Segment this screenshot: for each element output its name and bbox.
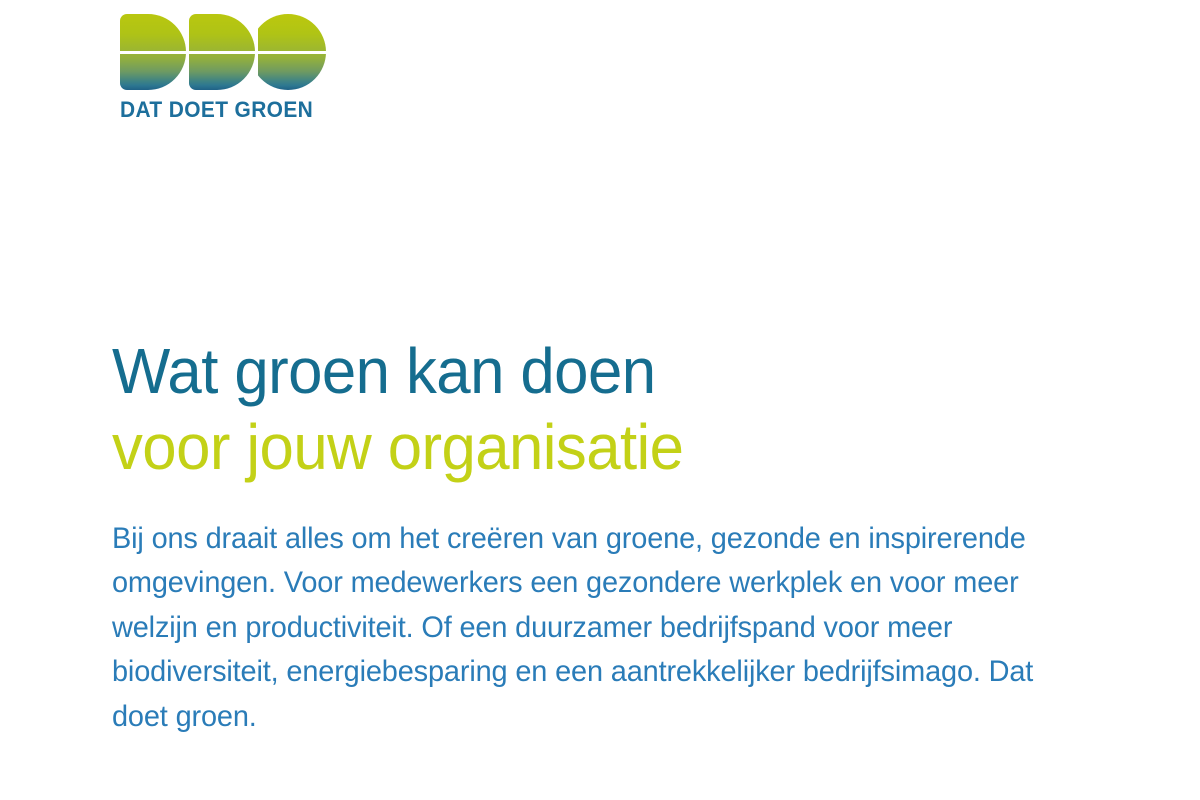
logo-glyph-d-second-bottom-shape: [189, 54, 255, 90]
logo-glyph-o-bottom-shape: [258, 54, 326, 90]
headline-line-primary: Wat groen kan doen: [112, 333, 1077, 409]
logo-glyph-o-top-shape: [258, 14, 326, 51]
logo-glyph-d-first-top-shape: [120, 14, 186, 51]
logo-glyph-d-second-bottom-half: [189, 54, 255, 90]
logo-glyph-d-first-top-half: [120, 14, 186, 51]
logo-mark: [120, 14, 326, 90]
headline-line-secondary: voor jouw organisatie: [112, 409, 1077, 485]
page-title: Wat groen kan doen voor jouw organisatie: [112, 333, 1112, 485]
logo-glyph-o-bottom-half: [258, 54, 326, 90]
logo-glyph-o-top-half: [258, 14, 326, 51]
logo-glyph-d-first-bottom-half: [120, 54, 186, 90]
logo-split-band: [118, 51, 328, 54]
logo-glyph-d-second-top-shape: [189, 14, 255, 51]
logo-glyph-d-second-top-half: [189, 14, 255, 51]
intro-paragraph: Bij ons draait alles om het creëren van …: [112, 517, 1041, 740]
page-root: DAT DOET GROEN Wat groen kan doen voor j…: [0, 0, 1200, 800]
logo-glyph-d-first-bottom-shape: [120, 54, 186, 90]
brand-tagline: DAT DOET GROEN: [120, 97, 313, 123]
brand-logo[interactable]: [120, 14, 326, 90]
